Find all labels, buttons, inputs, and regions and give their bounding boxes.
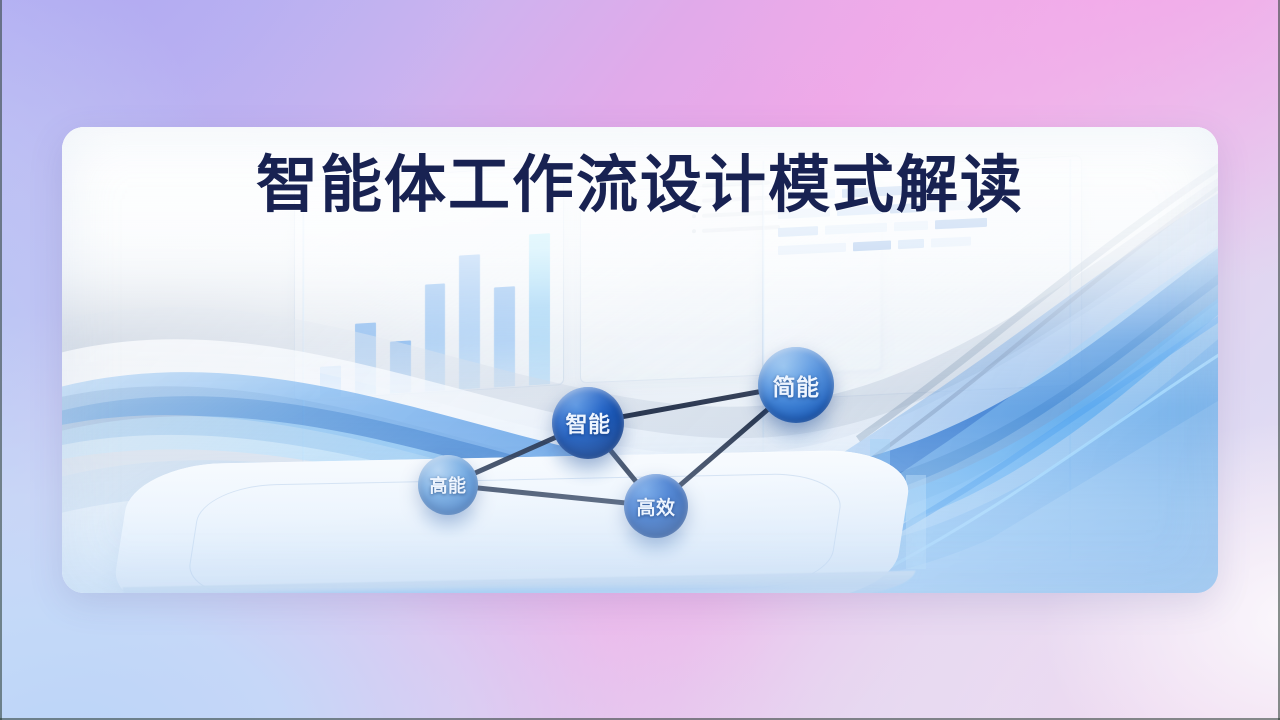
- page-title: 智能体工作流设计模式解读: [62, 153, 1218, 220]
- node-label: 简能: [773, 368, 820, 402]
- node-label: 高效: [636, 493, 675, 520]
- node-label: 智能: [565, 407, 610, 439]
- node-label: 高能: [430, 472, 467, 498]
- slide-stage: 高能智能高效简能 智能体工作流设计模式解读: [0, 0, 1280, 720]
- hero-card: 高能智能高效简能 智能体工作流设计模式解读: [62, 127, 1218, 593]
